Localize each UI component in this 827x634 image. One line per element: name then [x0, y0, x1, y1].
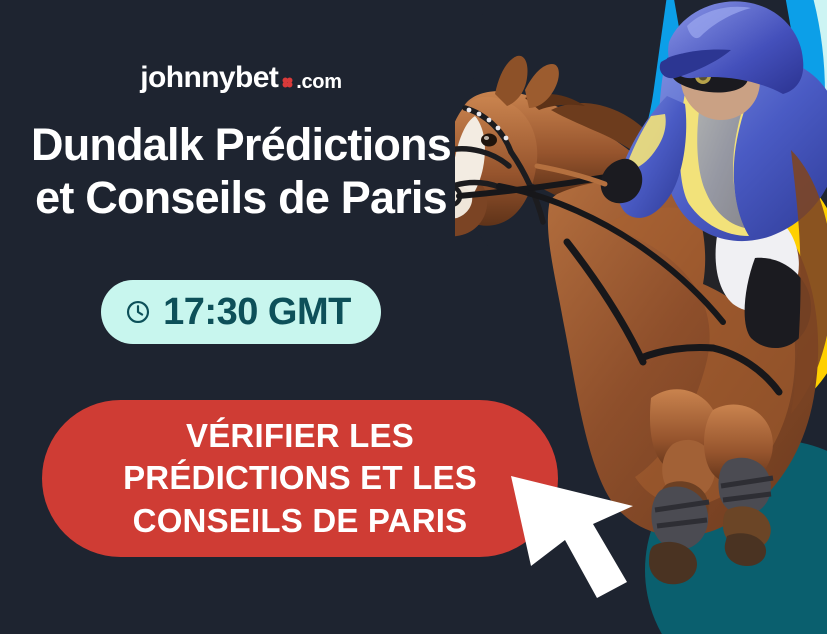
johnnybet-logo[interactable]: johnnybet .com	[140, 63, 341, 93]
headline-line-1: Dundalk Prédictions	[6, 119, 476, 172]
cta-line-2: PRÉDICTIONS ET LES	[123, 457, 477, 499]
page-title: Dundalk Prédictions et Conseils de Paris	[6, 119, 476, 224]
event-time-label: 17:30 GMT	[163, 293, 351, 331]
headline-line-2: et Conseils de Paris	[6, 172, 476, 225]
clover-icon	[281, 76, 294, 89]
status-badge: 17:30 GMT	[101, 280, 381, 344]
clock-icon	[125, 299, 151, 325]
promo-banner: johnnybet .com Dundalk Prédictions et Co…	[0, 0, 827, 634]
logo-wordmark: johnnybet	[140, 63, 278, 93]
logo-tld: .com	[296, 72, 341, 92]
check-predictions-button[interactable]: VÉRIFIER LES PRÉDICTIONS ET LES CONSEILS…	[42, 400, 558, 557]
cta-line-1: VÉRIFIER LES	[123, 415, 477, 457]
cta-text: VÉRIFIER LES PRÉDICTIONS ET LES CONSEILS…	[123, 415, 477, 542]
cta-line-3: CONSEILS DE PARIS	[123, 500, 477, 542]
teal-circle-shape	[645, 440, 827, 634]
